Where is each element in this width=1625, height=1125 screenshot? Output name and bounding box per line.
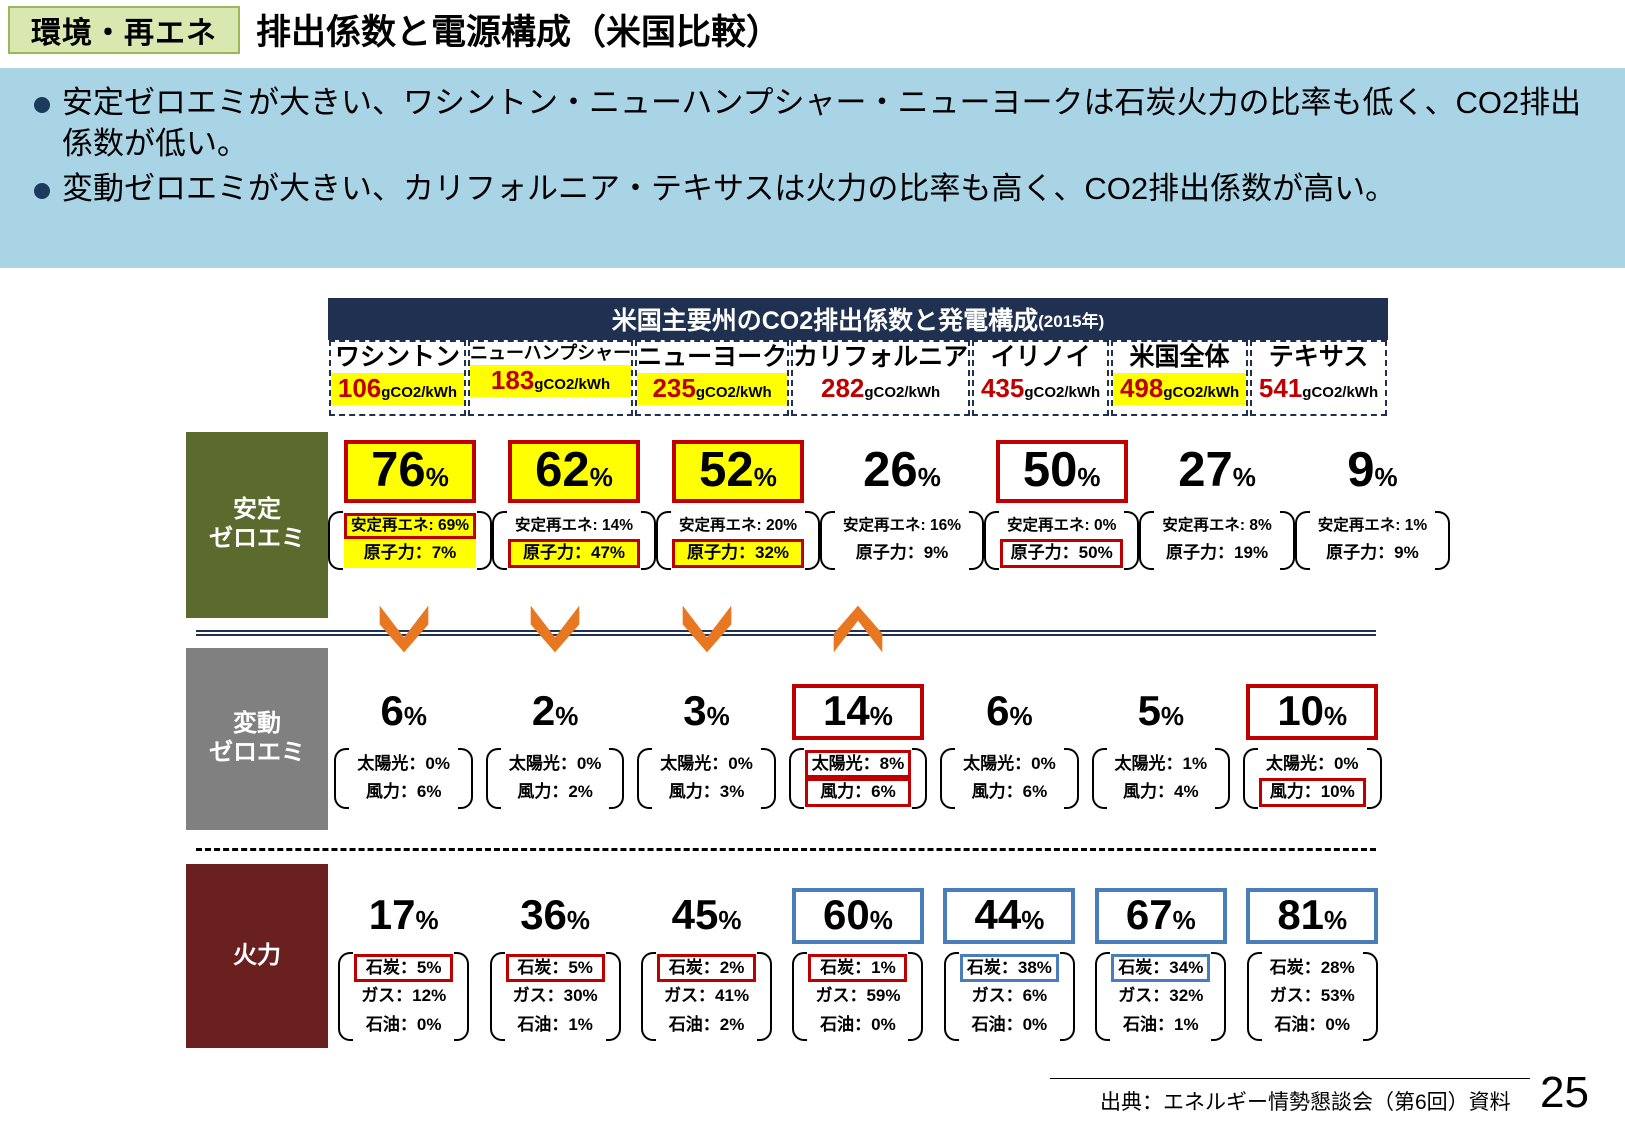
thermal-gas: ガス：30%: [506, 982, 605, 1010]
column-header-6: テキサス541gCO2/kWh: [1250, 340, 1387, 416]
stable-total-value: 62: [535, 446, 590, 495]
cell-thermal-5: 67%石炭：34%ガス：32%石油：1%: [1085, 864, 1236, 1048]
data-row-variable: 6%太陽光：0%風力：6%2%太陽光：0%風力：2%3%太陽光：0%風力：3%1…: [328, 648, 1388, 830]
variable-wind: 風力：6%: [350, 778, 457, 806]
thermal-total-value: 17: [369, 894, 416, 936]
thermal-total-value: 60: [823, 894, 870, 936]
stable-breakdown: 安定再エネ: 0%原子力：50%: [984, 509, 1139, 572]
emission-factor-value: 541: [1259, 373, 1302, 403]
column-state-name: カリフォルニア: [793, 343, 968, 372]
cell-stable-5: 27%安定再エネ: 8%原子力：19%: [1139, 432, 1294, 618]
variable-total: 6%: [338, 684, 470, 740]
emission-factor: 541gCO2/kWh: [1252, 373, 1385, 406]
thermal-breakdown: 石炭：5%ガス：12%石油：0%: [338, 950, 469, 1043]
column-state-name: ニューヨーク: [637, 343, 787, 372]
chevron-up-icon: [828, 600, 888, 658]
stable-breakdown: 安定再エネ: 16%原子力：9%: [820, 509, 984, 572]
bullet-text: 変動ゼロエミが大きい、カリフォルニア・テキサスは火力の比率も高く、CO2排出係数…: [62, 168, 1396, 209]
cell-stable-4: 50%安定再エネ: 0%原子力：50%: [984, 432, 1139, 618]
thermal-gas: ガス：59%: [808, 982, 907, 1010]
cell-variable-2: 3%太陽光：0%風力：3%: [631, 648, 782, 830]
stable-nuclear: 原子力：9%: [1311, 539, 1434, 567]
stable-total-value: 27: [1178, 446, 1233, 495]
thermal-total: 67%: [1095, 888, 1227, 944]
variable-breakdown: 太陽光：8%風力：6%: [789, 746, 928, 811]
emission-factor: 183gCO2/kWh: [470, 365, 631, 398]
source-note: 出典：エネルギー情勢懇談会（第6回）資料: [1100, 1086, 1511, 1116]
chevron-down-icon: [525, 600, 585, 658]
variable-total: 10%: [1246, 684, 1378, 740]
emission-factor-value: 235: [652, 373, 695, 403]
variable-total: 3%: [641, 684, 773, 740]
stable-nuclear: 原子力：9%: [836, 539, 968, 567]
cell-variable-4: 6%太陽光：0%風力：6%: [934, 648, 1085, 830]
thermal-total: 45%: [641, 888, 773, 944]
cell-variable-3: 14%太陽光：8%風力：6%: [782, 648, 933, 830]
emission-factor: 435gCO2/kWh: [974, 373, 1107, 406]
column-header-1: ニューハンプシャー183gCO2/kWh: [468, 340, 633, 416]
thermal-total-value: 45: [672, 894, 719, 936]
stable-breakdown: 安定再エネ: 20%原子力：32%: [656, 509, 820, 572]
column-state-name: イリノイ: [991, 343, 1091, 372]
table-banner-main: 米国主要州のCO2排出係数と発電構成: [612, 301, 1038, 337]
thermal-breakdown: 石炭：38%ガス：6%石油：0%: [944, 950, 1075, 1043]
stable-renewable: 安定再エネ: 8%: [1155, 513, 1278, 539]
variable-solar: 太陽光：0%: [502, 750, 609, 778]
variable-total: 14%: [792, 684, 924, 740]
cell-thermal-3: 60%石炭：1%ガス：59%石油：0%: [782, 864, 933, 1048]
emission-factor: 106gCO2/kWh: [331, 373, 464, 406]
variable-total-value: 6: [380, 690, 403, 732]
stable-total: 52%: [672, 440, 804, 503]
stable-renewable: 安定再エネ: 1%: [1311, 513, 1434, 539]
stable-total: 50%: [996, 440, 1128, 503]
emission-factor-unit: gCO2/kWh: [696, 384, 772, 401]
thermal-coal: 石炭：1%: [808, 954, 907, 982]
thermal-total: 44%: [943, 888, 1075, 944]
stable-nuclear: 原子力：47%: [508, 539, 640, 567]
stable-total: 26%: [836, 440, 968, 503]
thermal-oil: 石油：1%: [506, 1011, 605, 1039]
column-state-name: ワシントン: [335, 343, 460, 372]
footer-rule: [1050, 1078, 1530, 1079]
cell-stable-3: 26%安定再エネ: 16%原子力：9%: [820, 432, 984, 618]
stable-total: 9%: [1306, 440, 1438, 503]
stable-nuclear: 原子力：19%: [1155, 539, 1278, 567]
cell-stable-2: 52%安定再エネ: 20%原子力：32%: [656, 432, 820, 618]
variable-wind: 風力：2%: [502, 778, 609, 806]
cell-thermal-2: 45%石炭：2%ガス：41%石油：2%: [631, 864, 782, 1048]
stable-nuclear: 原子力：50%: [1000, 539, 1123, 567]
data-row-thermal: 17%石炭：5%ガス：12%石油：0%36%石炭：5%ガス：30%石油：1%45…: [328, 864, 1388, 1048]
thermal-gas: ガス：41%: [657, 982, 756, 1010]
slide-header: 環境・再エネ 排出係数と電源構成（米国比較）: [0, 0, 1625, 60]
thermal-total: 81%: [1246, 888, 1378, 944]
variable-breakdown: 太陽光：0%風力：10%: [1243, 746, 1382, 811]
comparison-table: 米国主要州のCO2排出係数と発電構成(2015年) ワシントン106gCO2/k…: [0, 282, 1625, 1062]
column-state-name: 米国全体: [1130, 343, 1230, 372]
thermal-oil: 石油：0%: [808, 1011, 907, 1039]
stable-total-value: 26: [863, 446, 918, 495]
thermal-oil: 石油：0%: [1263, 1011, 1362, 1039]
stable-breakdown: 安定再エネ: 14%原子力：47%: [492, 509, 656, 572]
emission-factor-unit: gCO2/kWh: [864, 384, 940, 401]
row-label-variable-zeroemi: 変動ゼロエミ: [186, 648, 328, 830]
thermal-total-value: 81: [1277, 894, 1324, 936]
stable-renewable: 安定再エネ: 16%: [836, 513, 968, 539]
variable-total-value: 14: [823, 690, 870, 732]
cell-thermal-1: 36%石炭：5%ガス：30%石油：1%: [479, 864, 630, 1048]
bullet-dot-icon: [34, 183, 50, 199]
stable-breakdown: 安定再エネ: 8%原子力：19%: [1139, 509, 1294, 572]
stable-total: 27%: [1151, 440, 1283, 503]
thermal-total-value: 36: [520, 894, 567, 936]
variable-wind: 風力：4%: [1108, 778, 1215, 806]
thermal-total-value: 44: [974, 894, 1021, 936]
emission-factor-value: 183: [491, 365, 534, 395]
thermal-breakdown: 石炭：1%ガス：59%石油：0%: [792, 950, 923, 1043]
stable-total-value: 76: [371, 446, 426, 495]
emission-factor: 282gCO2/kWh: [793, 373, 968, 406]
thermal-oil: 石油：0%: [354, 1011, 453, 1039]
thermal-breakdown: 石炭：5%ガス：30%石油：1%: [490, 950, 621, 1043]
thermal-breakdown: 石炭：28%ガス：53%石油：0%: [1247, 950, 1378, 1043]
summary-bullets: 安定ゼロエミが大きい、ワシントン・ニューハンプシャー・ニューヨークは石炭火力の比…: [0, 68, 1625, 268]
thermal-oil: 石油：0%: [960, 1011, 1059, 1039]
chevron-down-icon: [677, 600, 737, 658]
emission-factor-unit: gCO2/kWh: [1302, 384, 1378, 401]
stable-total-value: 50: [1023, 446, 1078, 495]
emission-factor-value: 282: [821, 373, 864, 403]
column-header-2: ニューヨーク235gCO2/kWh: [635, 340, 789, 416]
thermal-total-value: 67: [1126, 894, 1173, 936]
thermal-total: 17%: [338, 888, 470, 944]
stable-breakdown: 安定再エネ: 69%原子力：7%: [328, 509, 492, 572]
thermal-coal: 石炭：2%: [657, 954, 756, 982]
variable-solar: 太陽光：8%: [805, 750, 912, 778]
page-title: 排出係数と電源構成（米国比較）: [256, 4, 781, 55]
thermal-coal: 石炭：28%: [1263, 954, 1362, 982]
variable-solar: 太陽光：0%: [956, 750, 1063, 778]
emission-factor-value: 106: [338, 373, 381, 403]
table-banner-year: (2015年): [1038, 307, 1104, 332]
column-state-name: テキサス: [1269, 343, 1369, 372]
stable-renewable: 安定再エネ: 0%: [1000, 513, 1123, 539]
table-column-headers: ワシントン106gCO2/kWhニューハンプシャー183gCO2/kWhニューヨ…: [328, 340, 1388, 416]
variable-total-value: 10: [1277, 690, 1324, 732]
cell-variable-5: 5%太陽光：1%風力：4%: [1085, 648, 1236, 830]
thermal-oil: 石油：1%: [1111, 1011, 1210, 1039]
thermal-coal: 石炭：5%: [506, 954, 605, 982]
emission-factor-unit: gCO2/kWh: [1163, 384, 1239, 401]
thermal-total: 36%: [489, 888, 621, 944]
cell-stable-1: 62%安定再エネ: 14%原子力：47%: [492, 432, 656, 618]
variable-breakdown: 太陽光：0%風力：6%: [334, 746, 473, 811]
thermal-gas: ガス：53%: [1263, 982, 1362, 1010]
variable-breakdown: 太陽光：0%風力：2%: [486, 746, 625, 811]
thermal-total: 60%: [792, 888, 924, 944]
variable-total-value: 3: [683, 690, 706, 732]
column-header-5: 米国全体498gCO2/kWh: [1111, 340, 1248, 416]
stable-nuclear: 原子力：32%: [672, 539, 804, 567]
stable-nuclear: 原子力：7%: [344, 539, 476, 567]
variable-breakdown: 太陽光：0%風力：3%: [637, 746, 776, 811]
variable-total-value: 6: [986, 690, 1009, 732]
thermal-gas: ガス：6%: [960, 982, 1059, 1010]
variable-total-value: 2: [532, 690, 555, 732]
emission-factor-unit: gCO2/kWh: [381, 384, 457, 401]
emission-factor: 498gCO2/kWh: [1113, 373, 1246, 406]
bullet-item: 変動ゼロエミが大きい、カリフォルニア・テキサスは火力の比率も高く、CO2排出係数…: [20, 168, 1603, 209]
thermal-coal: 石炭：38%: [960, 954, 1059, 982]
variable-wind: 風力：10%: [1259, 778, 1366, 806]
cell-thermal-4: 44%石炭：38%ガス：6%石油：0%: [934, 864, 1085, 1048]
variable-wind: 風力：3%: [653, 778, 760, 806]
stable-total-value: 9: [1347, 446, 1374, 495]
thermal-coal: 石炭：5%: [354, 954, 453, 982]
row-label-stable-zeroemi: 安定ゼロエミ: [186, 432, 328, 618]
table-banner: 米国主要州のCO2排出係数と発電構成(2015年): [328, 298, 1388, 340]
cell-stable-6: 9%安定再エネ: 1%原子力：9%: [1295, 432, 1450, 618]
thermal-breakdown: 石炭：2%ガス：41%石油：2%: [641, 950, 772, 1043]
chevron-down-icon: [374, 600, 434, 658]
stable-renewable: 安定再エネ: 14%: [508, 513, 640, 539]
variable-wind: 風力：6%: [805, 778, 912, 806]
variable-thermal-divider: [196, 848, 1376, 851]
cell-thermal-6: 81%石炭：28%ガス：53%石油：0%: [1237, 864, 1388, 1048]
variable-total: 5%: [1095, 684, 1227, 740]
column-state-name: ニューハンプシャー: [470, 343, 631, 364]
thermal-coal: 石炭：34%: [1111, 954, 1210, 982]
bullet-text: 安定ゼロエミが大きい、ワシントン・ニューハンプシャー・ニューヨークは石炭火力の比…: [62, 82, 1603, 164]
cell-thermal-0: 17%石炭：5%ガス：12%石油：0%: [328, 864, 479, 1048]
variable-solar: 太陽光：0%: [350, 750, 457, 778]
cell-stable-0: 76%安定再エネ: 69%原子力：7%: [328, 432, 492, 618]
thermal-gas: ガス：12%: [354, 982, 453, 1010]
variable-solar: 太陽光：0%: [653, 750, 760, 778]
cell-variable-0: 6%太陽光：0%風力：6%: [328, 648, 479, 830]
emission-factor-unit: gCO2/kWh: [1024, 384, 1100, 401]
variable-total: 6%: [943, 684, 1075, 740]
thermal-oil: 石油：2%: [657, 1011, 756, 1039]
column-header-4: イリノイ435gCO2/kWh: [972, 340, 1109, 416]
stable-total-value: 52: [699, 446, 754, 495]
cell-variable-6: 10%太陽光：0%風力：10%: [1237, 648, 1388, 830]
stable-renewable: 安定再エネ: 69%: [344, 513, 476, 539]
variable-breakdown: 太陽光：0%風力：6%: [940, 746, 1079, 811]
emission-factor-unit: gCO2/kWh: [534, 376, 610, 393]
variable-breakdown: 太陽光：1%風力：4%: [1092, 746, 1231, 811]
stable-total: 76%: [344, 440, 476, 503]
thermal-breakdown: 石炭：34%ガス：32%石油：1%: [1095, 950, 1226, 1043]
cell-variable-1: 2%太陽光：0%風力：2%: [479, 648, 630, 830]
stable-breakdown: 安定再エネ: 1%原子力：9%: [1295, 509, 1450, 572]
emission-factor-value: 498: [1120, 373, 1163, 403]
bullet-item: 安定ゼロエミが大きい、ワシントン・ニューハンプシャー・ニューヨークは石炭火力の比…: [20, 82, 1603, 164]
slide: 環境・再エネ 排出係数と電源構成（米国比較） 安定ゼロエミが大きい、ワシントン・…: [0, 0, 1625, 1125]
category-tag: 環境・再エネ: [8, 6, 240, 54]
variable-solar: 太陽光：1%: [1108, 750, 1215, 778]
row-label-thermal: 火力: [186, 864, 328, 1048]
column-header-0: ワシントン106gCO2/kWh: [329, 340, 466, 416]
variable-total: 2%: [489, 684, 621, 740]
variable-wind: 風力：6%: [956, 778, 1063, 806]
emission-factor-value: 435: [981, 373, 1024, 403]
thermal-gas: ガス：32%: [1111, 982, 1210, 1010]
bullet-dot-icon: [34, 97, 50, 113]
page-number: 25: [1540, 1068, 1589, 1118]
stable-total: 62%: [508, 440, 640, 503]
column-header-3: カリフォルニア282gCO2/kWh: [791, 340, 970, 416]
variable-total-value: 5: [1138, 690, 1161, 732]
variable-solar: 太陽光：0%: [1259, 750, 1366, 778]
data-row-stable: 76%安定再エネ: 69%原子力：7%62%安定再エネ: 14%原子力：47%5…: [328, 432, 1388, 618]
stable-renewable: 安定再エネ: 20%: [672, 513, 804, 539]
emission-factor: 235gCO2/kWh: [637, 373, 787, 406]
